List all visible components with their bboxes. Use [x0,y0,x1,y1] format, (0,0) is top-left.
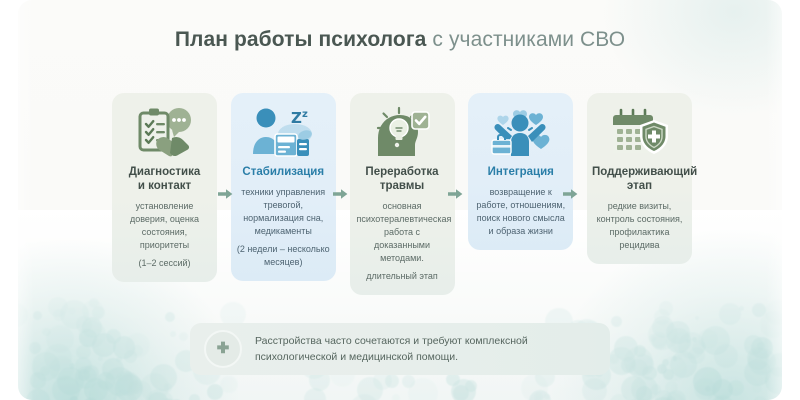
svg-text:z: z [302,109,308,120]
stage-card-title-line: Поддерживающий [592,165,687,179]
flow-arrow-1 [218,188,233,200]
stage-card-integraciya[interactable]: Интеграциявозвращение к работе, отношени… [468,93,573,250]
head-lightbulb-check-icon [355,103,450,161]
stage-card-stabilizaciya[interactable]: Z z Стабилизациятехники управления трево… [231,93,336,281]
summary-banner: Расстройства часто сочетаются и требуют … [190,323,610,375]
stage-card-title: Интеграция [473,165,568,179]
stage-card-title-line: травмы [355,179,450,193]
stage-card-diagnostika[interactable]: Диагностикаи контактустановление доверия… [112,93,217,282]
person-hearts-briefcase-icon [473,103,568,161]
stage-card-title: Стабилизация [236,165,331,179]
page-title-strong: План работы психолога [175,28,427,51]
stage-card-title: Диагностикаи контакт [117,165,212,193]
stage-card-duration: длительный этап [355,270,450,283]
stage-card-title: Поддерживающийэтап [592,165,687,193]
infographic-root: План работы психолога с участниками СВО … [0,0,800,400]
stage-card-duration: (1–2 сессий) [117,257,212,270]
flow-arrow-2 [333,188,348,200]
summary-banner-text: Расстройства часто сочетаются и требуют … [255,333,528,365]
stage-card-title-line: и контакт [117,179,212,193]
stage-card-title-line: Стабилизация [236,165,331,179]
stage-card-title-line: Переработка [355,165,450,179]
flow-arrow-3 [448,188,463,200]
stage-card-podderzhivayushchiy-etap[interactable]: Поддерживающийэтапредкие визиты, контрол… [587,93,692,264]
stage-card-title-line: Диагностика [117,165,212,179]
stage-card-description: техники управления тревогой, нормализаци… [236,186,331,238]
background-edge-fade-right [766,0,800,400]
summary-banner-line-2: психологической и медицинской помощи. [255,349,528,365]
stage-card-description: редкие визиты, контроль состояния, профи… [592,200,687,252]
stage-card-row: Диагностикаи контактустановление доверия… [112,93,692,295]
svg-text:Z: Z [291,109,302,127]
medical-cross-icon [204,330,242,368]
summary-banner-line-1: Расстройства часто сочетаются и требуют … [255,333,528,349]
flow-arrow-4 [563,188,578,200]
stage-card-description: возвращение к работе, отношениям, поиск … [473,186,568,238]
calendar-shield-icon [592,103,687,161]
page-title: План работы психолога с участниками СВО [0,28,800,52]
clipboard-handshake-icon [117,103,212,161]
stage-card-pererabotka-travmy[interactable]: Переработкатравмыосновная психотералевти… [350,93,455,295]
stage-card-title-line: Интеграция [473,165,568,179]
page-title-light: с участниками СВО [426,28,625,51]
sleep-medication-icon: Z z [236,103,331,161]
stage-card-description: основная психотералевтическая работа с д… [355,200,450,265]
stage-card-title-line: этап [592,179,687,193]
background-edge-fade-left [0,0,34,400]
stage-card-title: Переработкатравмы [355,165,450,193]
stage-card-description: установление доверия, оценка состояния, … [117,200,212,252]
stage-card-duration: (2 недели – несколько месяцев) [236,243,331,269]
